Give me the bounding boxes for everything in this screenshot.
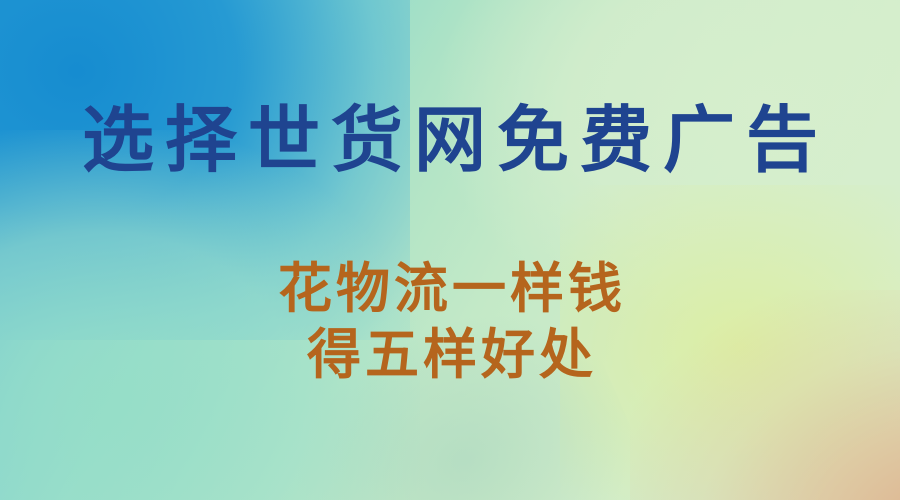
banner-subtitle-line-2: 得五样好处: [0, 322, 900, 388]
banner-subtitle-line-1: 花物流一样钱: [0, 256, 900, 322]
banner-headline: 选择世货网免费广告: [0, 104, 900, 176]
promo-banner: 选择世货网免费广告 花物流一样钱 得五样好处: [0, 0, 900, 500]
banner-subtitle: 花物流一样钱 得五样好处: [0, 256, 900, 388]
